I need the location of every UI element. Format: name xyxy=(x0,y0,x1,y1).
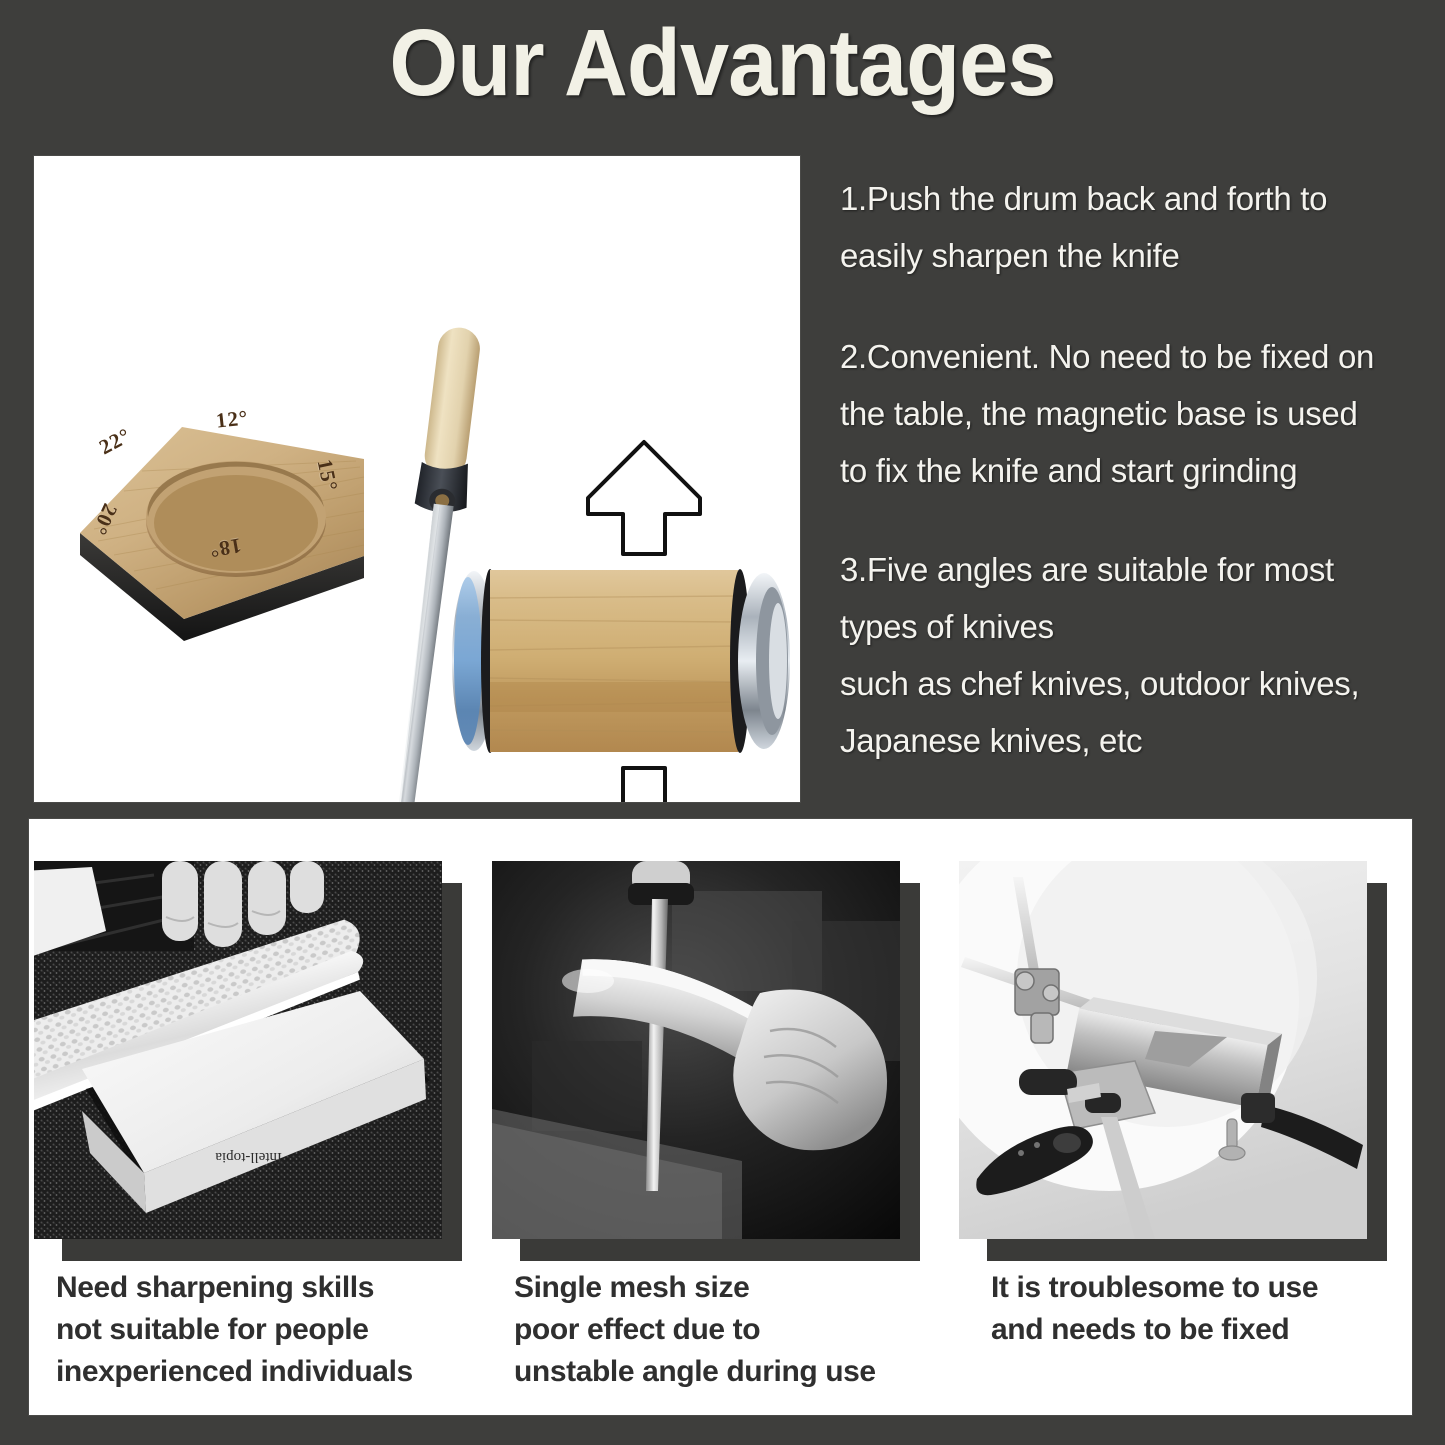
hero-product-photo-panel: 12° 15° 18° 20° 22° xyxy=(33,155,801,803)
photo-honing-rod xyxy=(492,861,900,1239)
caption-2-line-3: unstable angle during use xyxy=(514,1351,910,1393)
arrow-down-icon xyxy=(579,761,709,803)
caption-3-line-2: and needs to be fixed xyxy=(991,1309,1377,1351)
advantage-3-line-4: Japanese knives, etc xyxy=(840,712,1440,769)
caption-2-line-2: poor effect due to xyxy=(514,1309,910,1351)
caption-3-line-1: It is troublesome to use xyxy=(991,1267,1377,1309)
advantage-1-line-2: easily sharpen the knife xyxy=(840,227,1440,284)
advantage-3-line-1: 3.Five angles are suitable for most xyxy=(840,541,1440,598)
photo-box: Intell-topia xyxy=(34,861,452,1251)
comparison-card-whetstone: Intell-topia Need sharpening skills not … xyxy=(34,861,452,1393)
comparison-card-fixed-jig: It is troublesome to use and needs to be… xyxy=(959,861,1377,1351)
caption-1-line-1: Need sharpening skills xyxy=(56,1267,452,1309)
advantage-3-line-2: types of knives xyxy=(840,598,1440,655)
infographic-root: Our Advantages xyxy=(0,0,1445,1445)
caption-2-line-1: Single mesh size xyxy=(514,1267,910,1309)
photo-box xyxy=(492,861,910,1251)
page-title: Our Advantages xyxy=(51,8,1395,118)
photo-fixed-jig xyxy=(959,861,1367,1239)
caption-1-line-2: not suitable for people xyxy=(56,1309,452,1351)
svg-text:Intell-topia: Intell-topia xyxy=(215,1149,282,1165)
wooden-drum-roller xyxy=(434,554,801,769)
section-divider xyxy=(0,803,1445,819)
advantage-2-line-3: to fix the knife and start grinding xyxy=(840,442,1440,499)
advantage-1-line-1: 1.Push the drum back and forth to xyxy=(840,170,1440,227)
advantage-item-2: 2.Convenient. No need to be fixed on the… xyxy=(840,328,1440,499)
wooden-angle-base: 12° 15° 18° 20° 22° xyxy=(64,371,394,671)
caption-honing-rod: Single mesh size poor effect due to unst… xyxy=(492,1267,910,1393)
caption-fixed-jig: It is troublesome to use and needs to be… xyxy=(959,1267,1377,1351)
caption-whetstone: Need sharpening skills not suitable for … xyxy=(34,1267,452,1393)
comparison-cards: Intell-topia Need sharpening skills not … xyxy=(29,819,1414,1417)
advantage-3-line-3: such as chef knives, outdoor knives, xyxy=(840,655,1440,712)
advantage-2-line-2: the table, the magnetic base is used xyxy=(840,385,1440,442)
advantage-item-1: 1.Push the drum back and forth to easily… xyxy=(840,170,1440,284)
hero-stage: 12° 15° 18° 20° 22° xyxy=(34,156,800,802)
photo-box xyxy=(959,861,1377,1251)
arrow-up-icon xyxy=(579,436,709,561)
caption-1-line-3: inexperienced individuals xyxy=(56,1351,452,1393)
photo-whetstone: Intell-topia xyxy=(34,861,442,1239)
advantage-item-3: 3.Five angles are suitable for most type… xyxy=(840,541,1440,769)
comparison-section: Intell-topia Need sharpening skills not … xyxy=(28,818,1413,1416)
advantages-list: 1.Push the drum back and forth to easily… xyxy=(840,170,1440,769)
angle-label-12: 12° xyxy=(215,405,250,433)
advantage-2-line-1: 2.Convenient. No need to be fixed on xyxy=(840,328,1440,385)
comparison-card-honing-rod: Single mesh size poor effect due to unst… xyxy=(492,861,910,1393)
